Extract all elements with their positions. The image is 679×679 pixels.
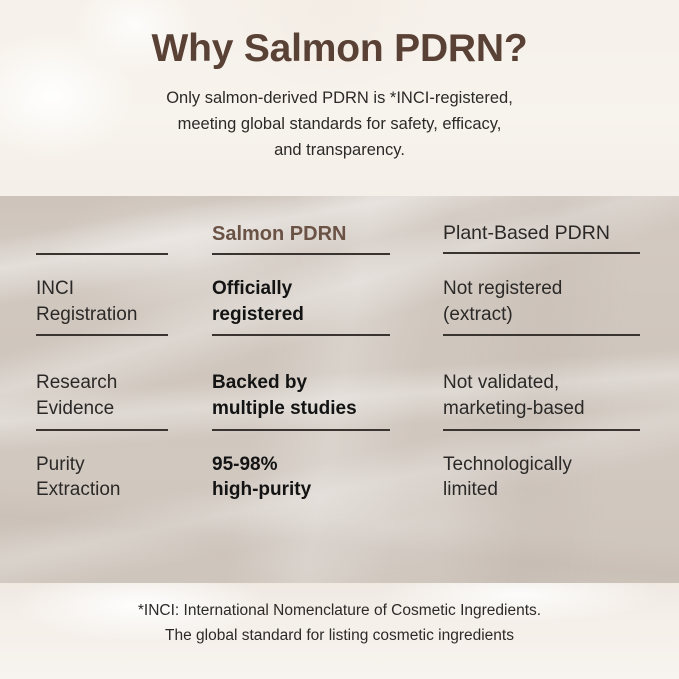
row-3-plant-line-1: Technologically xyxy=(443,452,643,478)
header-block: Why Salmon PDRN? Only salmon-derived PDR… xyxy=(0,28,679,163)
table-row: Purity Extraction 95-98% high-purity Tec… xyxy=(36,431,643,503)
row-1-rule-salmon xyxy=(212,334,390,336)
row-2-plant: Not validated, marketing-based xyxy=(443,370,643,430)
footnote-block: *INCI: International Nomenclature of Cos… xyxy=(0,598,679,648)
row-1-rule-plant xyxy=(443,334,640,336)
row-1-plant-line-2: (extract) xyxy=(443,302,643,328)
column-header-plant: Plant-Based PDRN xyxy=(443,222,643,245)
row-1-criterion-line-1: INCI xyxy=(36,276,204,302)
table-header-cell-plant: Plant-Based PDRN xyxy=(443,222,643,254)
subtitle-line-2: meeting global standards for safety, eff… xyxy=(178,115,502,133)
table-header-cell-criterion xyxy=(36,222,212,255)
subtitle-line-3: and transparency. xyxy=(274,141,405,159)
table-header-cell-salmon: Salmon PDRN xyxy=(212,222,443,255)
row-1-salmon-line-1: Officially xyxy=(212,276,435,302)
row-1-rule-criterion xyxy=(36,334,168,336)
row-2-rule-salmon xyxy=(212,429,390,431)
table-header-row: Salmon PDRN Plant-Based PDRN xyxy=(36,222,643,255)
row-1-criterion: INCI Registration xyxy=(36,276,212,336)
subtitle-line-1: Only salmon-derived PDRN is *INCI-regist… xyxy=(166,89,513,107)
page-title: Why Salmon PDRN? xyxy=(0,28,679,71)
table-row: Research Evidence Backed by multiple stu… xyxy=(36,349,643,430)
page-subtitle: Only salmon-derived PDRN is *INCI-regist… xyxy=(80,85,600,163)
row-2-criterion-line-1: Research xyxy=(36,370,204,396)
footnote-line-2: The global standard for listing cosmetic… xyxy=(0,623,679,648)
table-row: INCI Registration Officially registered … xyxy=(36,255,643,349)
header-rule-salmon xyxy=(212,253,390,255)
row-2-rule-plant xyxy=(443,429,640,431)
row-3-salmon-line-1: 95-98% xyxy=(212,452,435,478)
row-2-salmon-line-1: Backed by xyxy=(212,370,435,396)
row-3-plant: Technologically limited xyxy=(443,452,643,503)
row-3-criterion-line-2: Extraction xyxy=(36,477,204,503)
row-1-criterion-line-2: Registration xyxy=(36,302,204,328)
header-rule-plant xyxy=(443,252,640,254)
row-1-salmon-line-2: registered xyxy=(212,302,435,328)
row-1-salmon: Officially registered xyxy=(212,276,443,336)
row-3-salmon: 95-98% high-purity xyxy=(212,452,443,503)
row-2-rule-criterion xyxy=(36,429,168,431)
row-2-salmon-line-2: multiple studies xyxy=(212,396,435,422)
row-1-plant-line-1: Not registered xyxy=(443,276,643,302)
comparison-table: Salmon PDRN Plant-Based PDRN INCI Regist… xyxy=(36,222,643,503)
row-3-salmon-line-2: high-purity xyxy=(212,477,435,503)
row-3-criterion-line-1: Purity xyxy=(36,452,204,478)
row-2-criterion-line-2: Evidence xyxy=(36,396,204,422)
row-2-salmon: Backed by multiple studies xyxy=(212,370,443,430)
row-2-plant-line-1: Not validated, xyxy=(443,370,643,396)
row-1-plant: Not registered (extract) xyxy=(443,276,643,336)
row-2-criterion: Research Evidence xyxy=(36,370,212,430)
content-layer: Why Salmon PDRN? Only salmon-derived PDR… xyxy=(0,0,679,679)
footnote-line-1: *INCI: International Nomenclature of Cos… xyxy=(0,598,679,623)
row-3-plant-line-2: limited xyxy=(443,477,643,503)
header-empty-label xyxy=(36,222,204,246)
column-header-salmon: Salmon PDRN xyxy=(212,222,435,246)
header-rule-criterion xyxy=(36,253,168,255)
row-2-plant-line-2: marketing-based xyxy=(443,396,643,422)
row-3-criterion: Purity Extraction xyxy=(36,452,212,503)
infographic-card: Why Salmon PDRN? Only salmon-derived PDR… xyxy=(0,0,679,679)
